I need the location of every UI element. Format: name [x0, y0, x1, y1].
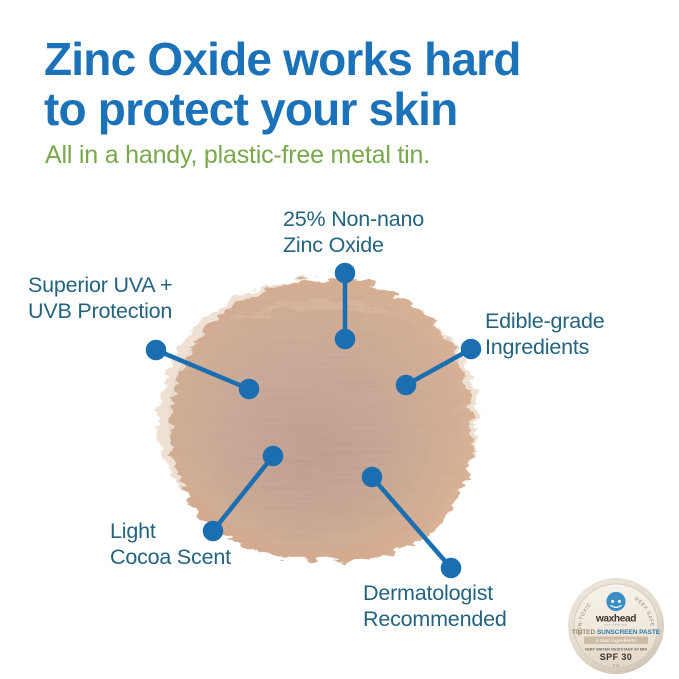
headline-line-1: Zinc Oxide works hard	[44, 34, 644, 84]
callout-label-edible-ingredients: Edible-grade Ingredients	[485, 308, 679, 360]
tin-water-resistant: VERY WATER RESISTANT 80 MIN	[585, 647, 648, 651]
callout-label-uva-protection: Superior UVA + UVB Protection	[28, 272, 243, 324]
tin-size: 2 oz	[613, 664, 620, 668]
waxhead-logo-icon	[606, 592, 625, 611]
callout-label-dermatologist: Dermatologist Recommended	[363, 580, 593, 632]
callout-label-cocoa-scent: Light Cocoa Scent	[110, 518, 325, 570]
headline-line-2: to protect your skin	[44, 84, 644, 134]
product-tin-badge: NON-TOXIC REEF SAFE waxhead sun defense …	[566, 576, 666, 676]
page-subtitle: All in a handy, plastic-free metal tin.	[45, 140, 645, 170]
infographic-canvas: Zinc Oxide works hard to protect your sk…	[0, 0, 679, 679]
svg-text:TINTED SUNSCREEN PASTE: TINTED SUNSCREEN PASTE	[572, 629, 661, 636]
tin-brand-subtitle: sun defense	[604, 623, 627, 627]
tin-ingredients-banner: 4 total ingredients	[596, 638, 636, 643]
tin-spf: SPF 30	[600, 652, 632, 662]
page-title: Zinc Oxide works hard to protect your sk…	[44, 34, 644, 134]
tin-product-name: TINTED SUNSCREEN PASTE	[572, 629, 661, 636]
callout-label-zinc-oxide: 25% Non-nano Zinc Oxide	[283, 206, 498, 258]
